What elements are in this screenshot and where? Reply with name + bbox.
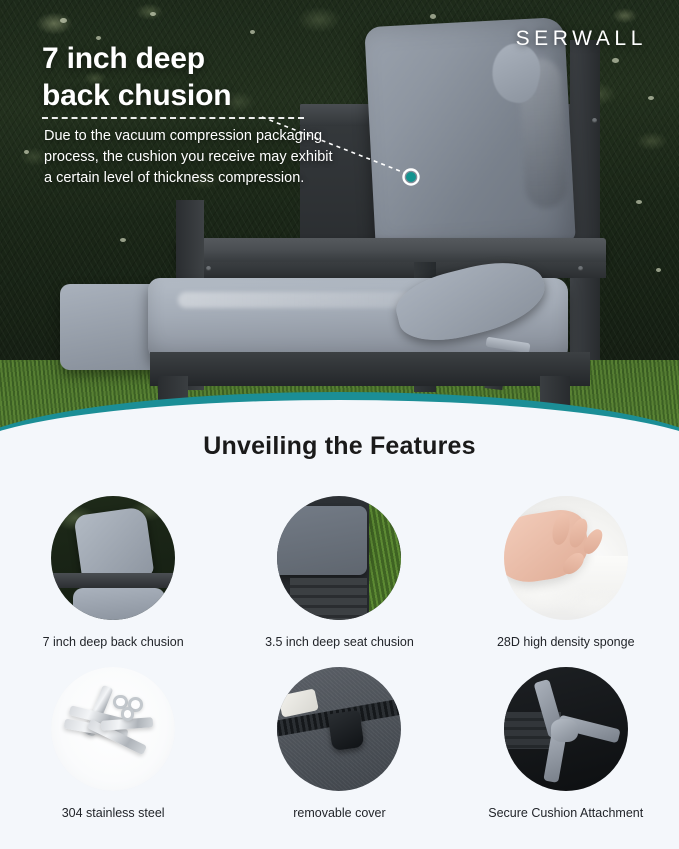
feature-item-stainless-steel[interactable]: 304 stainless steel [0,667,226,821]
seat-cushion-thumbnail[interactable] [277,496,401,620]
cushion-tie-thumbnail[interactable] [504,667,628,791]
feature-item-seat-cushion[interactable]: 3.5 inch deep seat chusion [226,496,452,650]
feature-item-sponge[interactable]: 28D high density sponge [453,496,679,650]
hero-body-text: Due to the vacuum compression packaging … [44,126,340,189]
hardware-thumbnail[interactable] [51,667,175,791]
features-panel: Unveiling the Features 7 inch deep back … [0,392,679,849]
headline-line-2: back chusion [42,77,372,114]
feature-item-back-cushion[interactable]: 7 inch deep back chusion [0,496,226,650]
features-title: Unveiling the Features [0,432,679,461]
back-cushion [364,17,576,252]
hand-foam-thumbnail[interactable] [504,496,628,620]
product-infographic: 7 inch deep back chusion Due to the vacu… [0,0,679,849]
feature-caption: 28D high density sponge [497,634,635,650]
zipper-thumbnail[interactable] [277,667,401,791]
headline-divider [42,117,304,119]
hero-section: 7 inch deep back chusion Due to the vacu… [0,0,679,440]
features-row-1: 7 inch deep back chusion 3.5 inch deep s… [0,496,679,650]
feature-caption: 3.5 inch deep seat chusion [265,634,414,650]
brand-logo: SERWALL [516,27,647,51]
bottom-spacer [0,818,679,849]
hero-headline: 7 inch deep back chusion [42,40,372,114]
feature-item-cushion-attachment[interactable]: Secure Cushion Attachment [453,667,679,821]
feature-caption: 7 inch deep back chusion [43,634,184,650]
back-cushion-thumbnail[interactable] [51,496,175,620]
headline-line-1: 7 inch deep [42,40,372,77]
feature-item-removable-cover[interactable]: removable cover [226,667,452,821]
features-grid: 7 inch deep back chusion 3.5 inch deep s… [0,496,679,822]
features-row-2: 304 stainless steel removable cover [0,667,679,821]
